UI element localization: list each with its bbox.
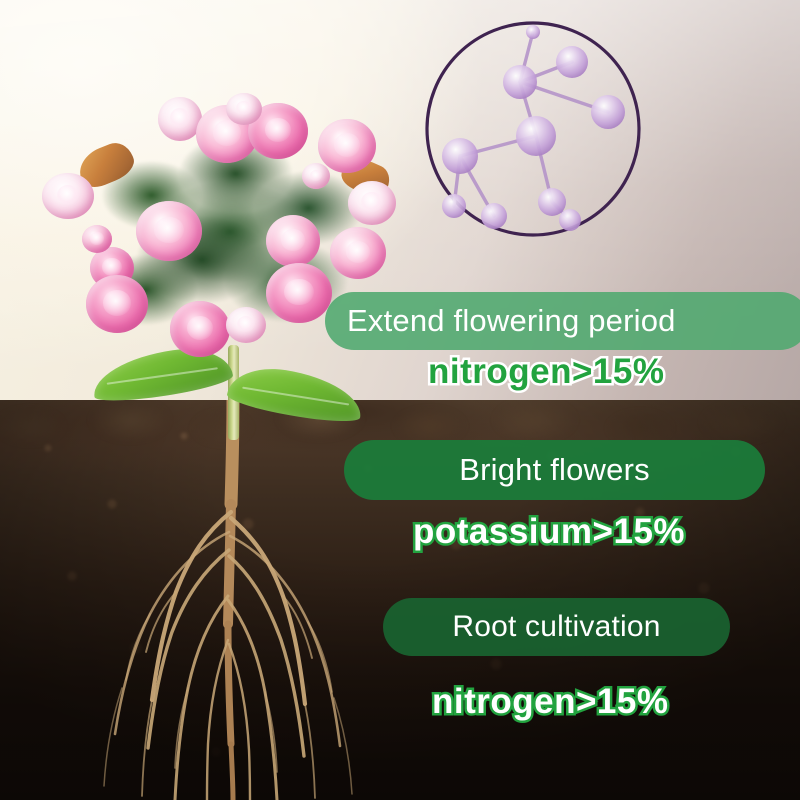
rose-bloom — [42, 173, 94, 219]
rose-bloom — [330, 227, 386, 279]
badge-title: Bright flowers — [459, 452, 650, 488]
leaf-vein — [107, 367, 218, 385]
rose-bloom — [86, 275, 148, 333]
poster-canvas: Extend flowering period nitrogen>15% Bri… — [0, 0, 800, 800]
molecule-illustration — [424, 20, 642, 238]
badge-nutrient-label: nitrogen>15% — [432, 682, 668, 722]
rose-bloom — [170, 301, 230, 357]
leaf-vein — [242, 386, 349, 405]
rose-bud — [302, 163, 330, 189]
rose-bloom — [348, 181, 396, 225]
rose-plant — [0, 0, 430, 800]
badge-nutrient-label: potassium>15% — [413, 512, 685, 552]
molecule-atoms — [442, 25, 625, 231]
rose-bloom — [136, 201, 202, 261]
rose-bloom — [318, 119, 376, 173]
badge-title: Extend flowering period — [347, 303, 676, 339]
rose-bud — [82, 225, 112, 253]
badge-title-pill: Root cultivation — [383, 598, 730, 656]
badge-nutrient-label: nitrogen>15% — [428, 352, 664, 392]
rose-bloom — [266, 215, 320, 267]
badge-title-pill: Bright flowers — [344, 440, 765, 500]
base-leaf-right — [225, 362, 365, 427]
rose-bloom — [266, 263, 332, 323]
badge-title-pill: Extend flowering period — [325, 292, 800, 350]
rose-bloom — [226, 93, 262, 125]
rose-bloom — [226, 307, 266, 343]
badge-title: Root cultivation — [452, 610, 660, 644]
